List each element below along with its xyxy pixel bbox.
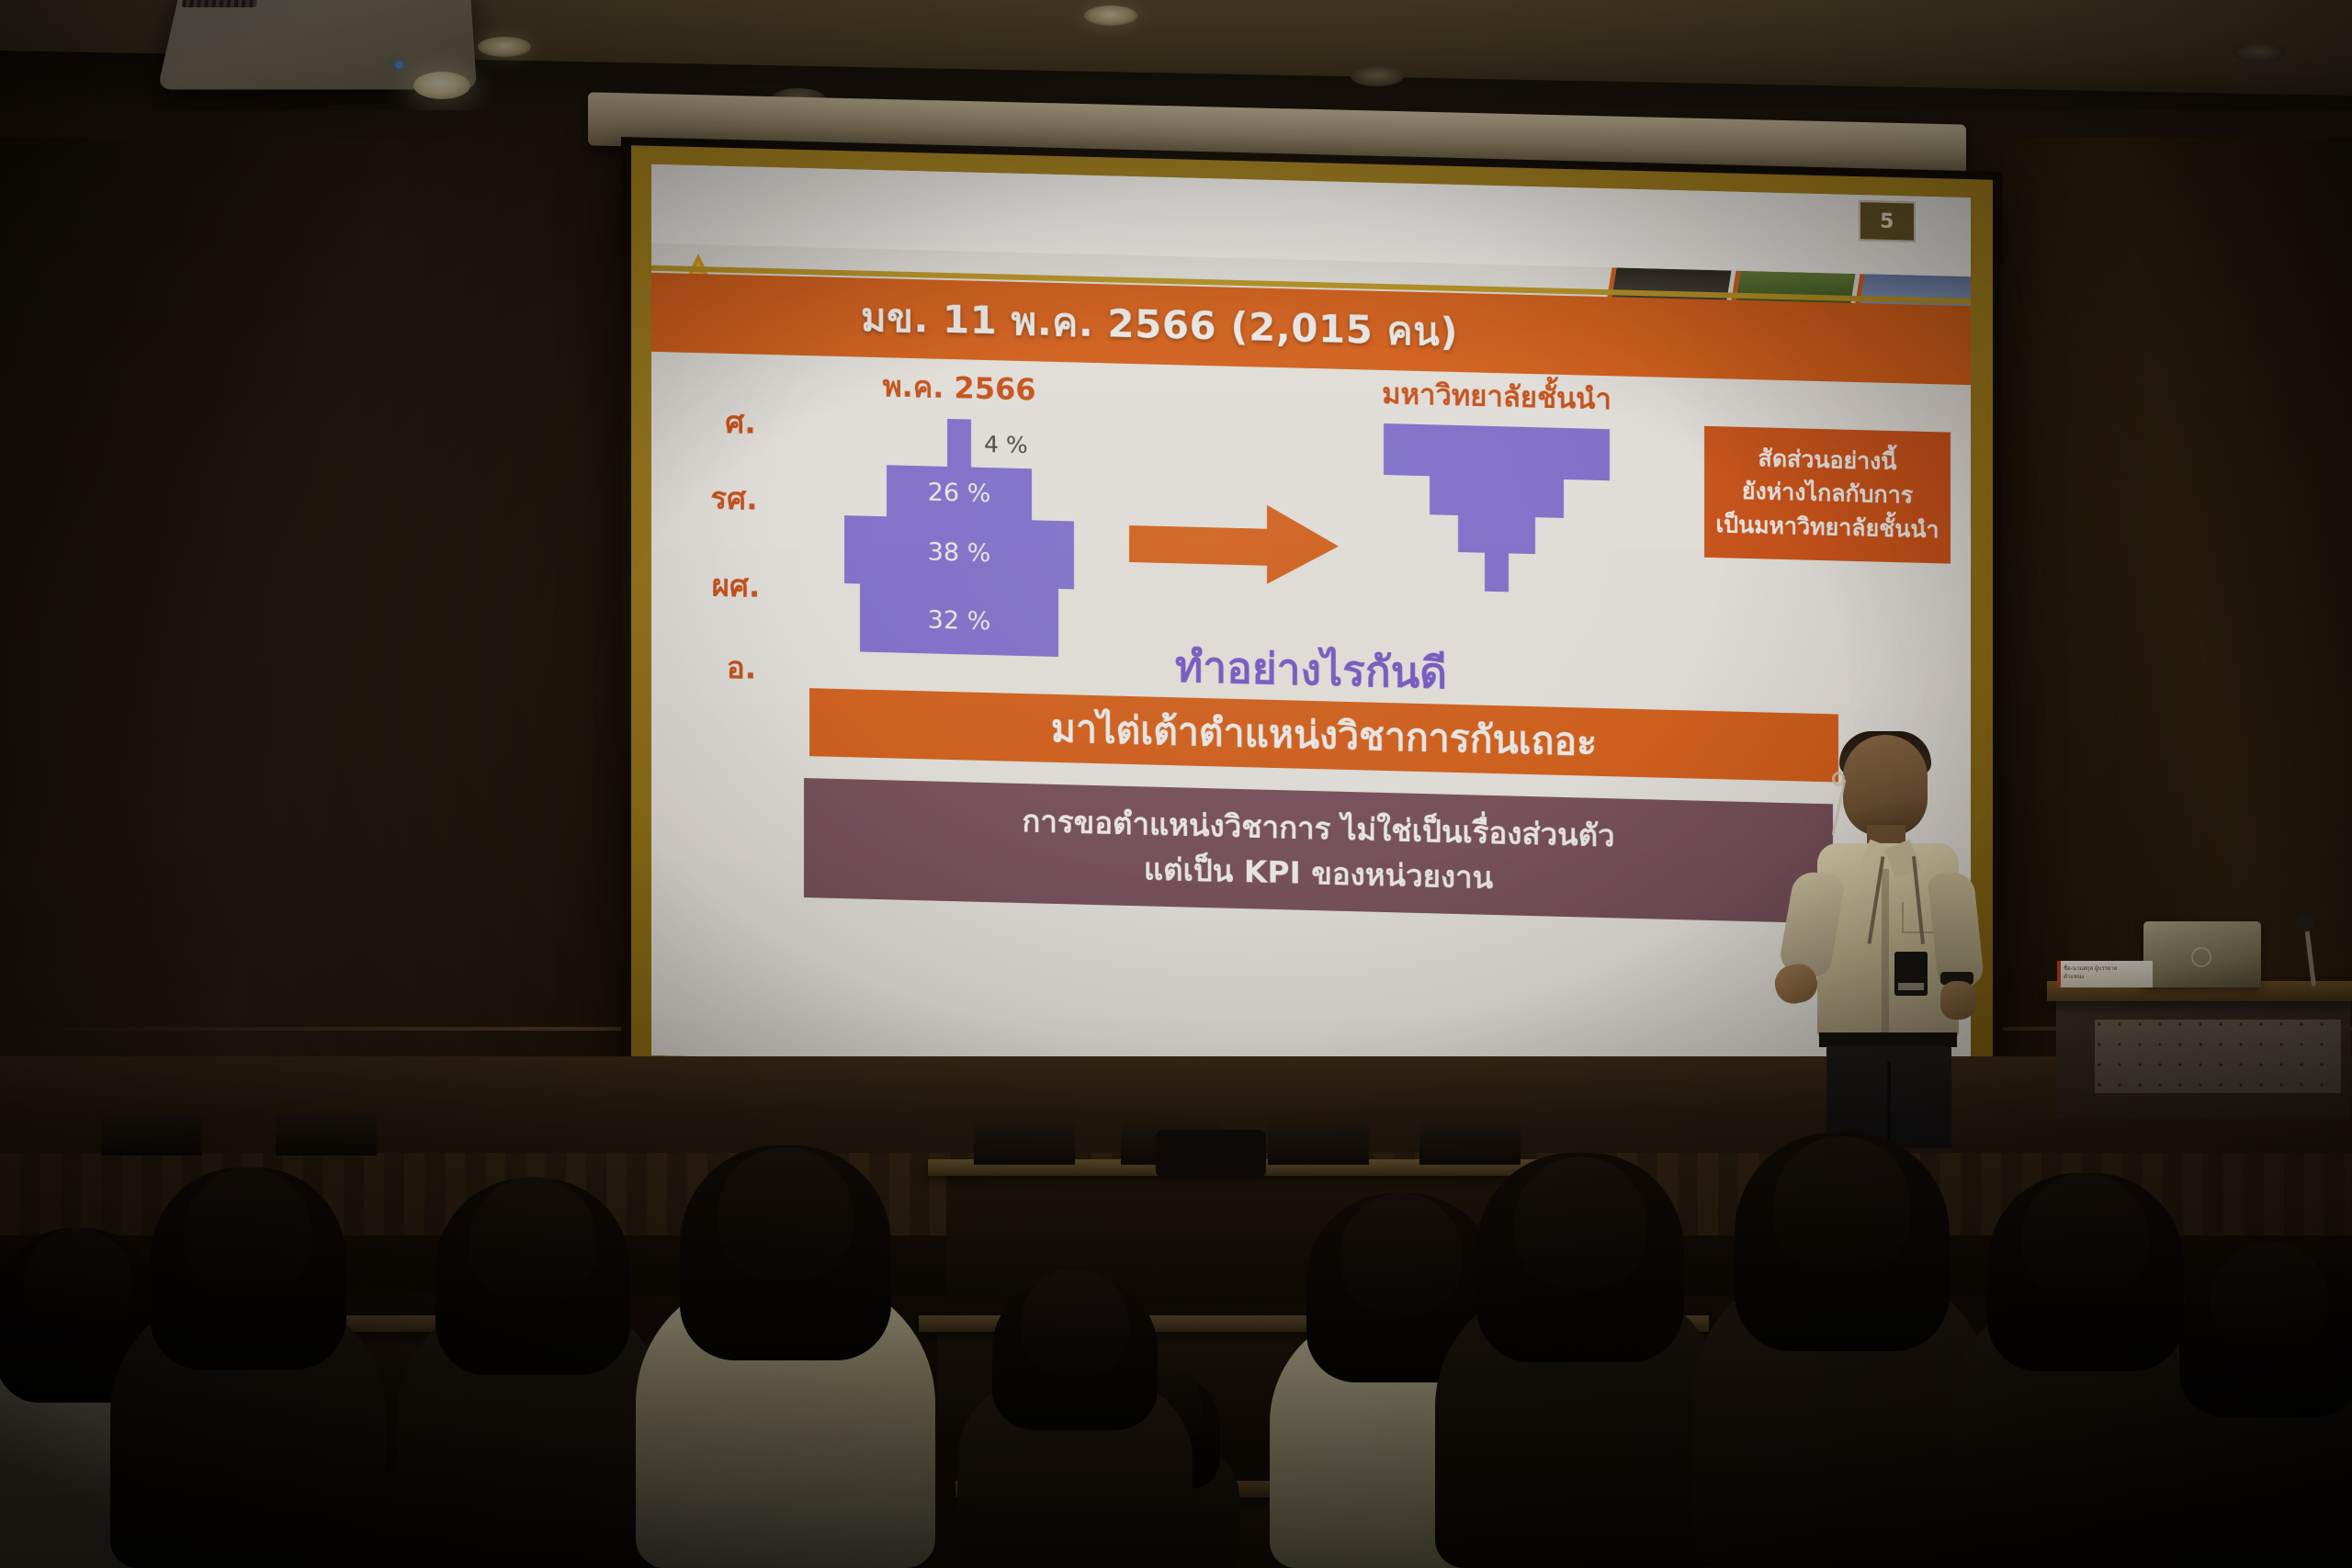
- name-card-line-1: ชื่อ-นามสกุล ผู้บรรยาย: [2064, 964, 2150, 973]
- audience-member: [634, 1155, 937, 1568]
- handbag: [1156, 1130, 1266, 1178]
- recessed-downlight: [2233, 42, 2286, 62]
- chair: [1268, 1122, 1369, 1165]
- slide-title: มข. 11 พ.ค. 2566 (2,015 คน): [861, 288, 1458, 363]
- presenter-id-badge: [1894, 952, 1928, 996]
- note-line-3: เป็นมหาวิทยาลัยชั้นนำ: [1713, 508, 1941, 547]
- projector-status-led-icon: [395, 61, 403, 69]
- audience-member: [1433, 1164, 1727, 1568]
- inverted-segment-associate-professor: [1430, 476, 1564, 518]
- left-wall-panel: [0, 138, 634, 1139]
- name-card-line-2: ตำแหน่ง: [2064, 973, 2150, 981]
- transition-arrow-icon: [1129, 502, 1340, 586]
- pyramid-inverted: [1350, 423, 1644, 595]
- audience-area: [0, 1056, 2352, 1568]
- title-bar-extension: [1666, 299, 1971, 386]
- pyramid-segment-associate-professor: 26 %: [887, 465, 1032, 520]
- chair: [1419, 1122, 1521, 1165]
- recessed-downlight: [1351, 66, 1404, 86]
- audience-member: [110, 1173, 386, 1568]
- lecture-hall-photo: 5: [0, 0, 2352, 1568]
- chair: [276, 1115, 377, 1156]
- audience-member: [955, 1292, 1194, 1568]
- recessed-downlight: [1084, 6, 1137, 26]
- inverted-segment-lecturer: [1485, 553, 1509, 592]
- audience-member: [395, 1182, 671, 1568]
- right-chart-caption: มหาวิทยาลัยชั้นนำ: [1350, 369, 1644, 423]
- projector-vent: [182, 0, 258, 7]
- slide-header-white-band: [651, 164, 1971, 276]
- speaker-name-card: ชื่อ-นามสกุล ผู้บรรยาย ตำแหน่ง: [2057, 961, 2153, 987]
- inverted-segment-assistant-professor: [1458, 515, 1535, 554]
- laptop-logo-icon: [2191, 947, 2211, 967]
- projector-lens: [413, 72, 470, 99]
- presenter-hand-right: [1940, 981, 1975, 1020]
- left-chart-caption: พ.ค. 2566: [808, 361, 1111, 415]
- pyramid-segment-professor: 4 %: [947, 419, 971, 468]
- audience-member: [2141, 1265, 2352, 1568]
- rank-label-professor: ศ.: [725, 398, 755, 447]
- target-distribution-chart: มหาวิทยาลัยชั้นนำ: [1350, 369, 1644, 595]
- rank-label-assistant-professor: ผศ.: [712, 560, 761, 610]
- chair: [101, 1115, 202, 1156]
- kpi-line-1: การขอตำแหน่งวิชาการ ไม่ใช่เป็นเรื่องส่วน…: [1022, 798, 1614, 859]
- current-distribution-chart: พ.ค. 2566 4 % 26 % 38 % 32 %: [808, 361, 1111, 658]
- inverted-segment-professor: [1384, 423, 1610, 480]
- chair: [974, 1122, 1075, 1165]
- presenter-head: [1843, 735, 1928, 836]
- note-line-1: สัดส่วนอย่างนี้: [1713, 441, 1941, 480]
- slide-number-badge: 5: [1859, 200, 1916, 243]
- kpi-line-2: แต่เป็น KPI ของหน่วยงาน: [1144, 846, 1493, 900]
- presenter-shirt-placket: [1882, 869, 1889, 1034]
- slide-body: ศ. รศ. ผศ. อ. พ.ค. 2566 4 % 26 %: [651, 352, 1971, 1089]
- pyramid-segment-assistant-professor: 38 %: [844, 515, 1074, 589]
- laptop: [2143, 921, 2261, 987]
- pyramid-value-professor: 4 %: [984, 430, 1028, 457]
- recessed-downlight: [478, 37, 531, 57]
- kpi-message-band: การขอตำแหน่งวิชาการ ไม่ใช่เป็นเรื่องส่วน…: [804, 778, 1833, 923]
- pyramid-upright: 4 % 26 % 38 % 32 %: [808, 415, 1111, 658]
- commentary-note-box: สัดส่วนอย่างนี้ ยังห่างไกลกับการ เป็นมหา…: [1704, 426, 1951, 564]
- rank-label-associate-professor: รศ.: [710, 473, 757, 523]
- note-line-2: ยังห่างไกลกับการ: [1713, 474, 1941, 513]
- presentation-slide: 5: [651, 164, 1971, 1089]
